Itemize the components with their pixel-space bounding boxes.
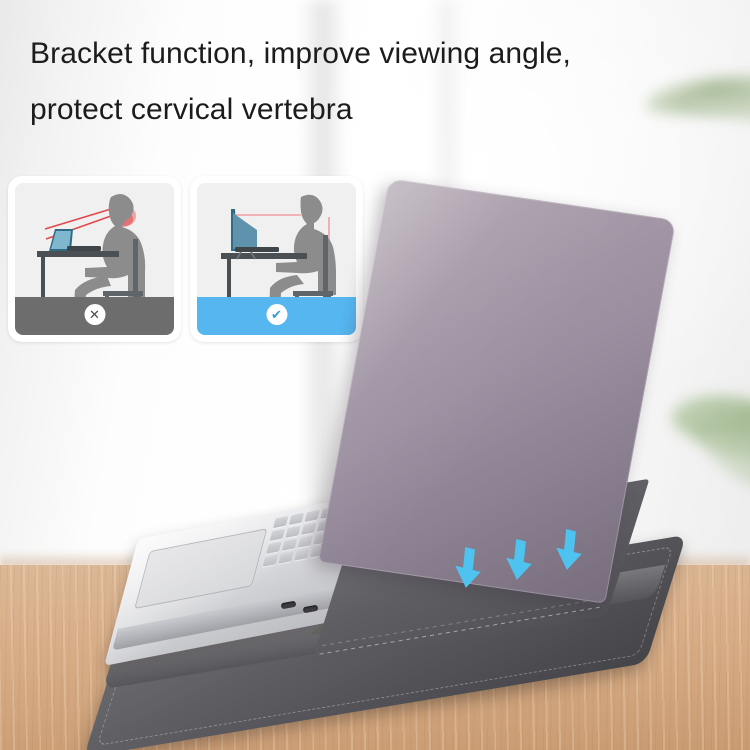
product-photo [0,0,750,750]
product-marketing-image: Bracket function, improve viewing angle,… [0,0,750,750]
